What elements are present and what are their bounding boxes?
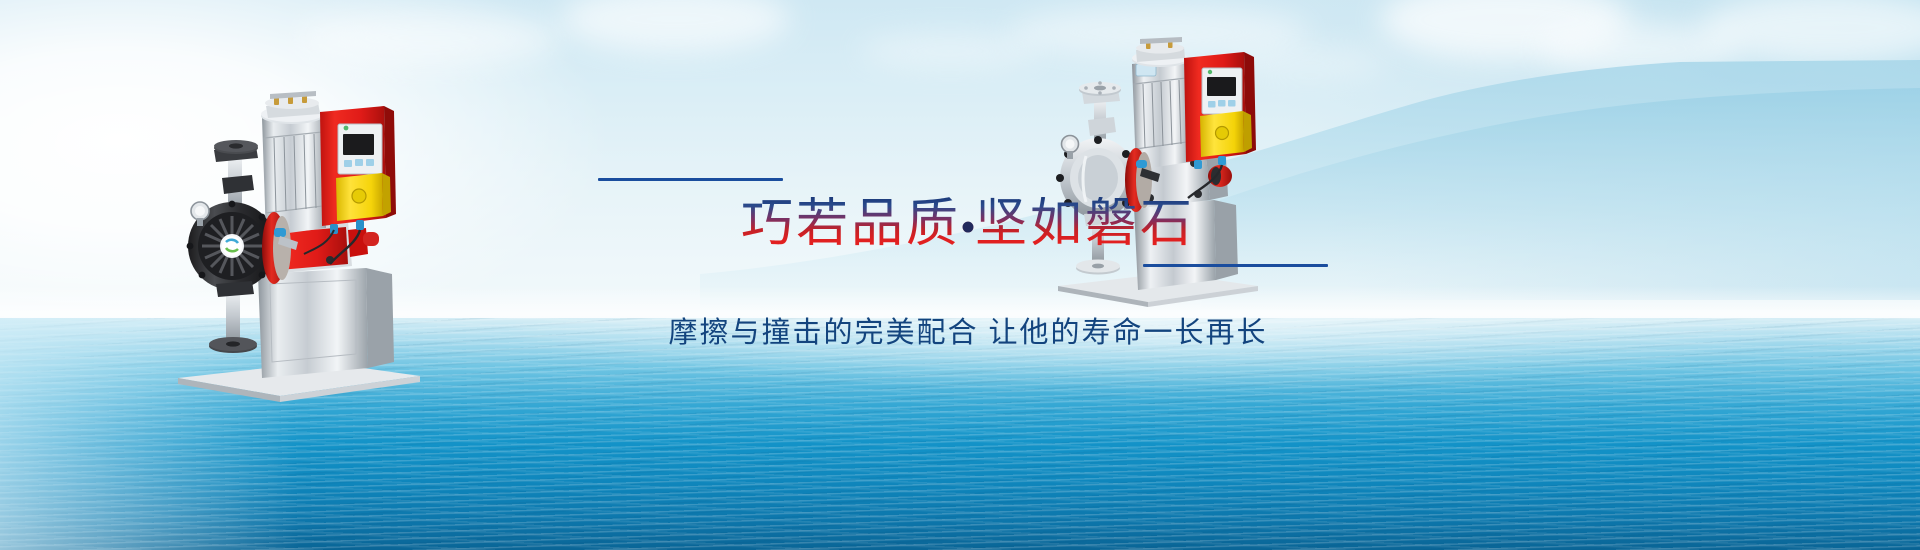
- cloud-wisp: [560, 0, 790, 52]
- headline-part-two: 坚如磐石: [975, 195, 1195, 253]
- hero-subheadline: 摩擦与撞击的完美配合 让他的寿命一长再长: [598, 309, 1338, 351]
- hero-banner: 巧若品质•坚如磐石 摩擦与撞击的完美配合 让他的寿命一长再长: [0, 0, 1920, 550]
- hero-headline: 巧若品质•坚如磐石: [598, 197, 1338, 252]
- decorative-rule-top: [598, 178, 783, 181]
- headline-separator-dot: •: [961, 205, 975, 249]
- headline-part-one: 巧若品质: [741, 195, 961, 253]
- cloud-wisp: [300, 10, 560, 66]
- hero-copy-block: 巧若品质•坚如磐石 摩擦与撞击的完美配合 让他的寿命一长再长: [598, 178, 1338, 351]
- decorative-rule-bottom: [1143, 264, 1328, 267]
- metering-pump-plastic-head-icon: [170, 78, 430, 408]
- product-image-pump-left: [170, 78, 430, 408]
